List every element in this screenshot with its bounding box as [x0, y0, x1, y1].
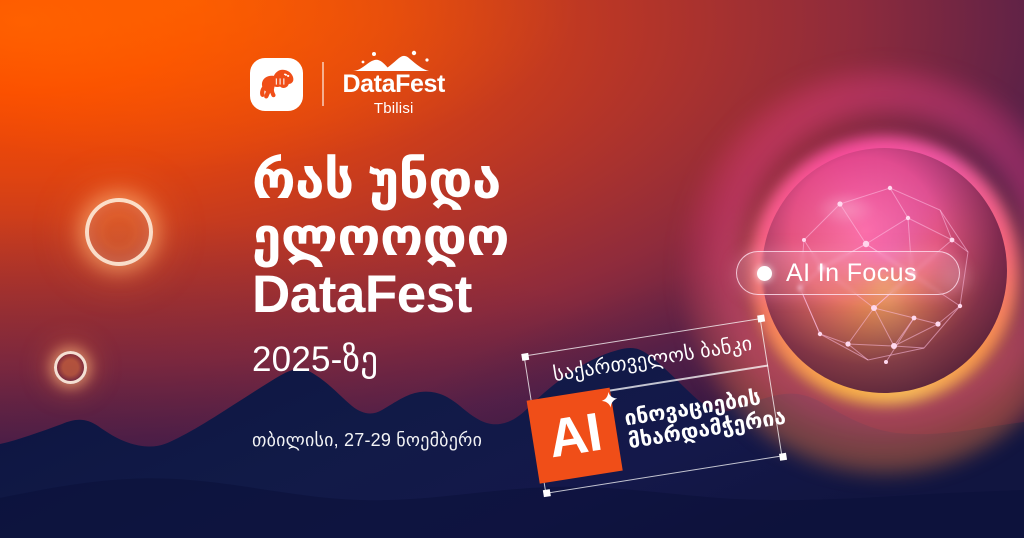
headline-georgian: რას უნდა ელოოდო	[252, 152, 772, 266]
headline-english: DataFest	[252, 266, 772, 323]
sponsor-tagline: ინოვაციების მხარდამჭერია	[623, 384, 787, 453]
mountain-peaks-icon	[351, 50, 437, 71]
page-title: რას უნდა ელოოდო DataFest	[252, 152, 772, 324]
ai-badge-box: AI	[527, 387, 623, 483]
sparkle-icon	[600, 390, 618, 408]
logo-city-text: Tbilisi	[374, 100, 414, 119]
ai-badge-label: AI	[544, 400, 605, 469]
datafest-hero-banner: AI In Focus	[0, 0, 1024, 538]
logo-name-text: DataFest	[343, 72, 445, 97]
glow-ring-large-icon	[85, 198, 153, 266]
tiger-mark-icon	[250, 58, 303, 111]
datafest-logo-lockup[interactable]: DataFest Tbilisi	[250, 50, 445, 119]
ai-in-focus-label: AI In Focus	[786, 259, 917, 288]
vertical-divider-icon	[322, 62, 324, 106]
datafest-wordmark: DataFest Tbilisi	[343, 50, 445, 119]
